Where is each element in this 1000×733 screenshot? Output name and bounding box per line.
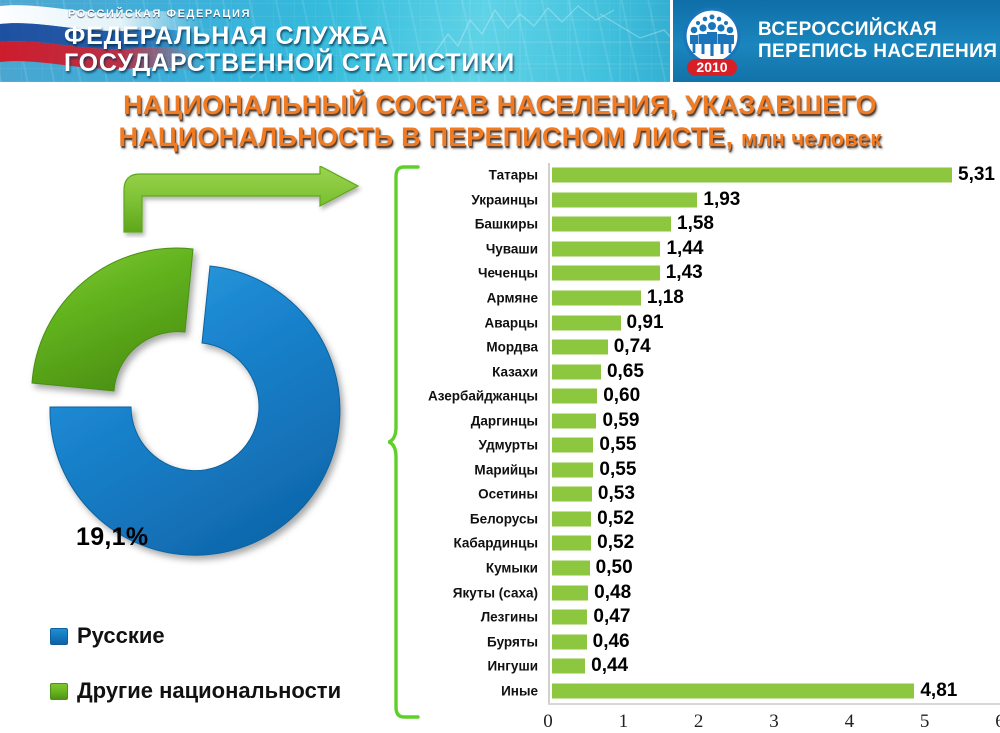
legend-item-russians[interactable]: Русские bbox=[50, 623, 341, 649]
census-year-text: 2010 bbox=[696, 59, 727, 75]
x-axis-tick-label: 1 bbox=[619, 711, 629, 733]
bar-category-label: Ингуши bbox=[487, 659, 538, 674]
bar-item[interactable] bbox=[552, 659, 585, 674]
bar-chart: ТатарыУкраинцыБашкирыЧувашиЧеченцыАрмяне… bbox=[410, 163, 1000, 723]
green-arrow-icon bbox=[112, 166, 372, 238]
bar-value-label: 1,58 bbox=[677, 213, 714, 235]
page-title-units: млн человек bbox=[741, 126, 881, 151]
donut-slice-other-nationalities bbox=[32, 248, 193, 391]
bar-category-label: Иные bbox=[501, 683, 538, 698]
x-axis-tick-label: 2 bbox=[694, 711, 704, 733]
census-emblem-icon: 2010 bbox=[674, 4, 750, 78]
bar-value-label: 1,43 bbox=[666, 262, 703, 284]
agency-country-label: РОССИЙСКАЯ ФЕДЕРАЦИЯ bbox=[68, 8, 251, 20]
bar-category-label: Казахи bbox=[492, 364, 538, 379]
legend-swatch-green-icon bbox=[50, 683, 68, 700]
bar-category-label: Аварцы bbox=[485, 315, 538, 330]
legend-item-other[interactable]: Другие национальности bbox=[50, 678, 341, 704]
bar-category-label: Армяне bbox=[487, 291, 538, 306]
bar-category-label: Буряты bbox=[487, 634, 538, 649]
x-axis-tick-label: 4 bbox=[845, 711, 855, 733]
bar-category-label: Лезгины bbox=[481, 610, 538, 625]
bar-item[interactable] bbox=[552, 536, 591, 551]
bar-category-label: Украинцы bbox=[471, 192, 538, 207]
bar-item[interactable] bbox=[552, 683, 914, 698]
bar-value-label: 0,65 bbox=[607, 361, 644, 383]
page-title-line2: НАЦИОНАЛЬНОСТЬ В ПЕРЕПИСНОМ ЛИСТЕ, bbox=[119, 122, 734, 152]
bar-item[interactable] bbox=[552, 487, 592, 502]
bar-item[interactable] bbox=[552, 364, 601, 379]
census-logo-text: ВСЕРОССИЙСКАЯ ПЕРЕПИСЬ НАСЕЛЕНИЯ bbox=[758, 19, 997, 63]
bar-category-label: Мордва bbox=[486, 340, 538, 355]
x-axis-tick-label: 6 bbox=[995, 711, 1000, 733]
bar-category-label: Даргинцы bbox=[471, 413, 538, 428]
bar-value-label: 0,53 bbox=[598, 483, 635, 505]
legend-swatch-blue-icon bbox=[50, 628, 68, 645]
bar-value-label: 0,50 bbox=[596, 557, 633, 579]
slide-root: РОССИЙСКАЯ ФЕДЕРАЦИЯ ФЕДЕРАЛЬНАЯ СЛУЖБА … bbox=[0, 0, 1000, 733]
page-header: РОССИЙСКАЯ ФЕДЕРАЦИЯ ФЕДЕРАЛЬНАЯ СЛУЖБА … bbox=[0, 0, 1000, 82]
bar-value-label: 0,46 bbox=[593, 631, 630, 653]
bar-chart-categories: ТатарыУкраинцыБашкирыЧувашиЧеченцыАрмяне… bbox=[410, 163, 544, 703]
bar-value-label: 0,52 bbox=[597, 532, 634, 554]
census-logo: 2010 ВСЕРОССИЙСКАЯ ПЕРЕПИСЬ НАСЕЛЕНИЯ bbox=[674, 3, 992, 79]
bar-category-label: Осетины bbox=[478, 487, 538, 502]
agency-name-line1: ФЕДЕРАЛЬНАЯ СЛУЖБА bbox=[64, 22, 388, 51]
bar-category-label: Чуваши bbox=[486, 241, 538, 256]
bar-value-label: 4,81 bbox=[920, 680, 957, 702]
bar-category-label: Кумыки bbox=[486, 561, 538, 576]
bar-category-label: Белорусы bbox=[470, 511, 538, 526]
bar-value-label: 1,93 bbox=[703, 189, 740, 211]
bar-category-label: Удмурты bbox=[479, 438, 538, 453]
bar-item[interactable] bbox=[552, 340, 608, 355]
x-axis-tick-label: 0 bbox=[543, 711, 553, 733]
bar-item[interactable] bbox=[552, 585, 588, 600]
bar-value-label: 1,18 bbox=[647, 287, 684, 309]
bar-item[interactable] bbox=[552, 266, 660, 281]
bar-chart-axis-line bbox=[548, 703, 1000, 705]
bar-item[interactable] bbox=[552, 241, 660, 256]
census-logo-line1: ВСЕРОССИЙСКАЯ bbox=[758, 19, 997, 41]
bar-value-label: 0,91 bbox=[627, 312, 664, 334]
donut-label-other: 19,1% bbox=[76, 523, 148, 552]
bar-item[interactable] bbox=[552, 168, 952, 183]
bar-value-label: 0,52 bbox=[597, 508, 634, 530]
bar-chart-x-axis: 0123456 bbox=[548, 711, 1000, 733]
bar-item[interactable] bbox=[552, 634, 587, 649]
bar-value-label: 0,55 bbox=[599, 434, 636, 456]
bar-item[interactable] bbox=[552, 217, 671, 232]
legend-label-other: Другие национальности bbox=[77, 678, 341, 704]
bar-category-label: Башкиры bbox=[475, 217, 538, 232]
bar-item[interactable] bbox=[552, 610, 587, 625]
bar-value-label: 0,60 bbox=[603, 385, 640, 407]
x-axis-tick-label: 5 bbox=[920, 711, 930, 733]
agency-name-line2: ГОСУДАРСТВЕННОЙ СТАТИСТИКИ bbox=[64, 49, 515, 78]
donut-chart: 19,1% 80,9% bbox=[10, 235, 370, 615]
bar-item[interactable] bbox=[552, 389, 597, 404]
bar-value-label: 0,48 bbox=[594, 582, 631, 604]
bar-category-label: Марийцы bbox=[474, 462, 538, 477]
bar-category-label: Якуты (саха) bbox=[453, 585, 538, 600]
page-title: НАЦИОНАЛЬНЫЙ СОСТАВ НАСЕЛЕНИЯ, УКАЗАВШЕГ… bbox=[0, 90, 1000, 154]
bar-value-label: 0,55 bbox=[599, 459, 636, 481]
page-title-line2-wrap: НАЦИОНАЛЬНОСТЬ В ПЕРЕПИСНОМ ЛИСТЕ, млн ч… bbox=[0, 122, 1000, 154]
census-logo-line2: ПЕРЕПИСЬ НАСЕЛЕНИЯ bbox=[758, 41, 997, 63]
bar-value-label: 0,74 bbox=[614, 336, 651, 358]
bar-item[interactable] bbox=[552, 511, 591, 526]
legend-label-russians: Русские bbox=[77, 623, 165, 649]
bar-item[interactable] bbox=[552, 315, 621, 330]
donut-legend: Русские Другие национальности bbox=[50, 623, 341, 733]
bar-value-label: 0,47 bbox=[593, 606, 630, 628]
bar-category-label: Чеченцы bbox=[478, 266, 538, 281]
bar-chart-plot-area: 5,311,931,581,441,431,180,910,740,650,60… bbox=[548, 163, 1000, 703]
bar-value-label: 1,44 bbox=[666, 238, 703, 260]
x-axis-tick-label: 3 bbox=[769, 711, 779, 733]
bar-category-label: Азербайджанцы bbox=[428, 389, 538, 404]
bar-item[interactable] bbox=[552, 291, 641, 306]
bar-item[interactable] bbox=[552, 462, 593, 477]
bar-category-label: Татары bbox=[489, 168, 538, 183]
bar-value-label: 5,31 bbox=[958, 164, 995, 186]
page-title-line1: НАЦИОНАЛЬНЫЙ СОСТАВ НАСЕЛЕНИЯ, УКАЗАВШЕГ… bbox=[0, 90, 1000, 122]
bar-item[interactable] bbox=[552, 438, 593, 453]
bar-category-label: Кабардинцы bbox=[453, 536, 538, 551]
bar-value-label: 0,59 bbox=[602, 410, 639, 432]
bar-item[interactable] bbox=[552, 413, 596, 428]
bar-item[interactable] bbox=[552, 192, 697, 207]
bar-item[interactable] bbox=[552, 561, 590, 576]
bar-value-label: 0,44 bbox=[591, 655, 628, 677]
